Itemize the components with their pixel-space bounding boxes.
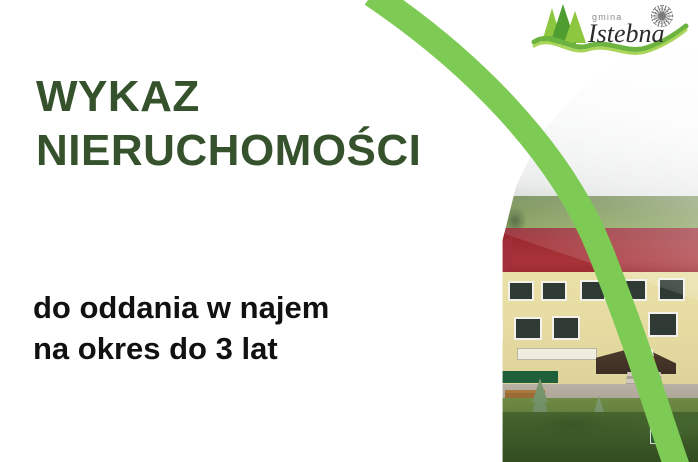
page-title: WYKAZ NIERUCHOMOŚCI xyxy=(36,70,516,177)
page-title-line-1: WYKAZ xyxy=(36,70,516,124)
photo-polish-flag xyxy=(639,349,656,367)
page-subtitle: do oddania w najem na okres do 3 lat xyxy=(33,288,453,370)
page-subtitle-line-1: do oddania w najem xyxy=(33,288,453,329)
photo-sign-bank xyxy=(500,371,558,383)
gmina-istebna-logo: gmina Istebna xyxy=(530,2,690,58)
rosette-snowflake-icon xyxy=(651,5,673,27)
photo-window xyxy=(508,281,534,301)
page-subtitle-line-2: na okres do 3 lat xyxy=(33,329,453,370)
photo-window xyxy=(648,312,678,337)
photo-window xyxy=(620,279,647,301)
photo-window xyxy=(514,317,542,340)
photo-window xyxy=(580,280,606,301)
photo-window xyxy=(541,281,567,301)
poster-canvas: P WYKAZ NIERUCHOMOŚCI do oddania w najem… xyxy=(0,0,698,462)
photo-sign-board xyxy=(517,348,597,360)
logo-wordmark: Istebna xyxy=(587,19,665,48)
photo-notice-board xyxy=(650,418,670,444)
page-title-line-2: NIERUCHOMOŚCI xyxy=(36,124,516,178)
photo-window xyxy=(552,316,580,340)
